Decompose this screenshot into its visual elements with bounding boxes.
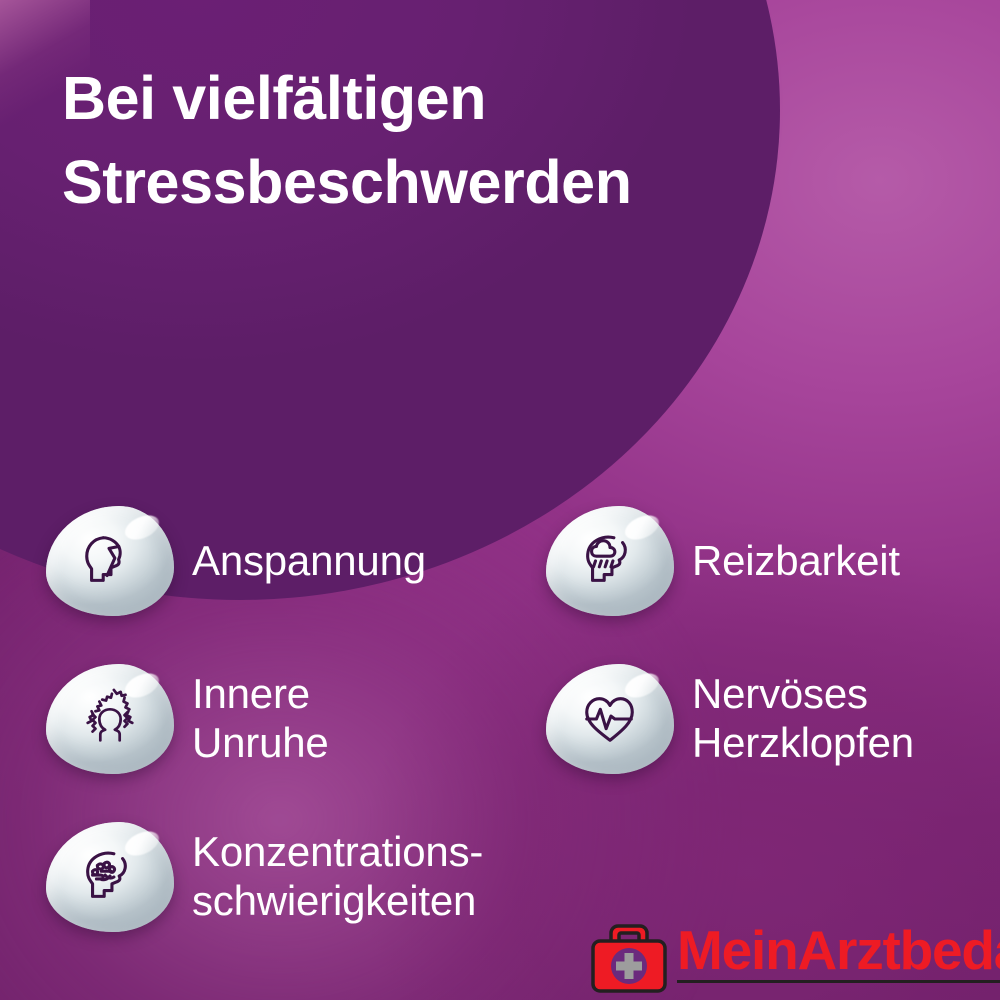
page-title: Bei vielfältigen Stressbeschwerden: [62, 56, 822, 224]
head-tangled-brain-icon: [79, 846, 141, 908]
symptom-label: Innere Unruhe: [192, 670, 329, 767]
symptom-label: Anspannung: [192, 537, 426, 586]
list-item: Anspannung: [46, 506, 516, 616]
list-item: Nervöses Herzklopfen: [546, 664, 986, 774]
symptom-label: Reizbarkeit: [692, 537, 900, 586]
promo-banner: Bei vielfältigen Stressbeschwerden Anspa…: [0, 0, 1000, 1000]
symptom-icon-badge: [46, 506, 174, 616]
logo-wordmark: MeinArztbedarf .com: [677, 920, 1000, 983]
symptom-icon-badge: [546, 506, 674, 616]
list-item: Reizbarkeit: [546, 506, 986, 616]
symptom-label: Konzentrations- schwierigkeiten: [192, 828, 483, 925]
medical-bag-icon: [589, 920, 669, 994]
list-item: Konzentrations- schwierigkeiten: [46, 822, 566, 932]
heart-pulse-icon: [579, 688, 641, 750]
head-rain-cloud-icon: [579, 530, 641, 592]
symptom-icon-badge: [46, 664, 174, 774]
symptom-icon-badge: [46, 822, 174, 932]
symptom-label: Nervöses Herzklopfen: [692, 670, 914, 767]
head-radiating-zigzag-icon: [79, 688, 141, 750]
list-item: Innere Unruhe: [46, 664, 516, 774]
symptom-icon-badge: [546, 664, 674, 774]
symptom-list: Anspannung Reizbarkeit: [0, 498, 1000, 948]
brand-logo[interactable]: MeinArztbedarf .com: [589, 920, 1000, 994]
logo-name: MeinArztbedarf: [677, 923, 1000, 978]
head-lightning-bolt-icon: [79, 530, 141, 592]
